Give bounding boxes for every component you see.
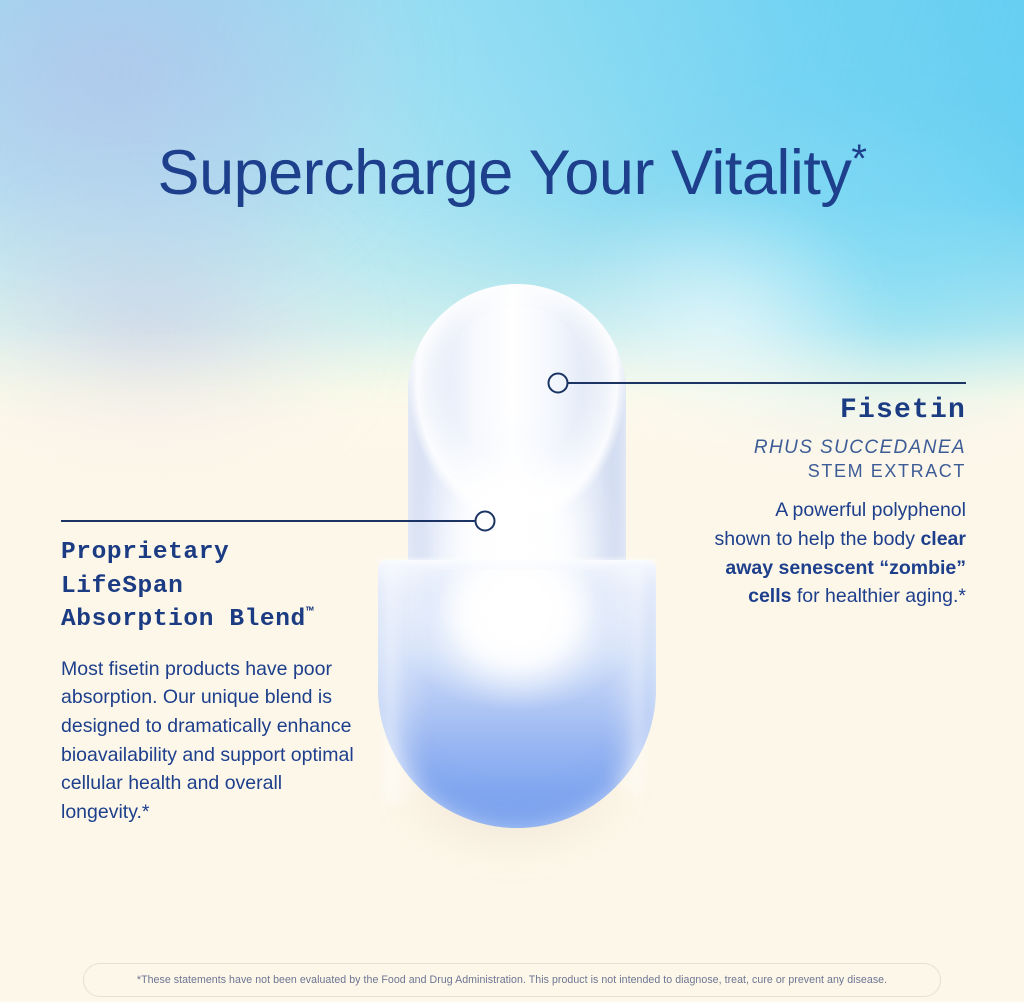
ingredient-latin-name: RHUS SUCCEDANEA [714, 436, 966, 460]
trademark-symbol: ™ [306, 605, 314, 620]
capsule-blue-half [378, 560, 656, 828]
fda-disclaimer-text: *These statements have not been evaluate… [137, 974, 887, 986]
ingredient-description-tail: for healthier aging.* [791, 585, 966, 607]
ingredient-name: Fisetin [714, 395, 966, 426]
ingredient-description: A powerful polyphenol shown to help the … [714, 496, 966, 611]
page-title-text: Supercharge Your Vitality [158, 138, 852, 208]
blend-name-line3: Absorption Blend [61, 606, 306, 633]
blend-description: Most fisetin products have poor absorpti… [61, 655, 361, 827]
callout-left: ProprietaryLifeSpanAbsorption Blend™ Mos… [61, 536, 361, 827]
blend-name-line2: LifeSpan [61, 573, 183, 600]
ingredient-plant-part: STEM EXTRACT [714, 460, 966, 483]
supplement-capsule [340, 270, 684, 850]
fda-disclaimer: *These statements have not been evaluate… [83, 963, 941, 997]
callout-right: Fisetin RHUS SUCCEDANEA STEM EXTRACT A p… [714, 395, 966, 611]
page-title: Supercharge Your Vitality* [0, 140, 1024, 206]
infographic-canvas: Supercharge Your Vitality* Fisetin RHUS … [0, 0, 1024, 1002]
page-title-asterisk: * [851, 137, 866, 181]
blend-name: ProprietaryLifeSpanAbsorption Blend™ [61, 536, 361, 637]
blend-name-line1: Proprietary [61, 539, 229, 566]
